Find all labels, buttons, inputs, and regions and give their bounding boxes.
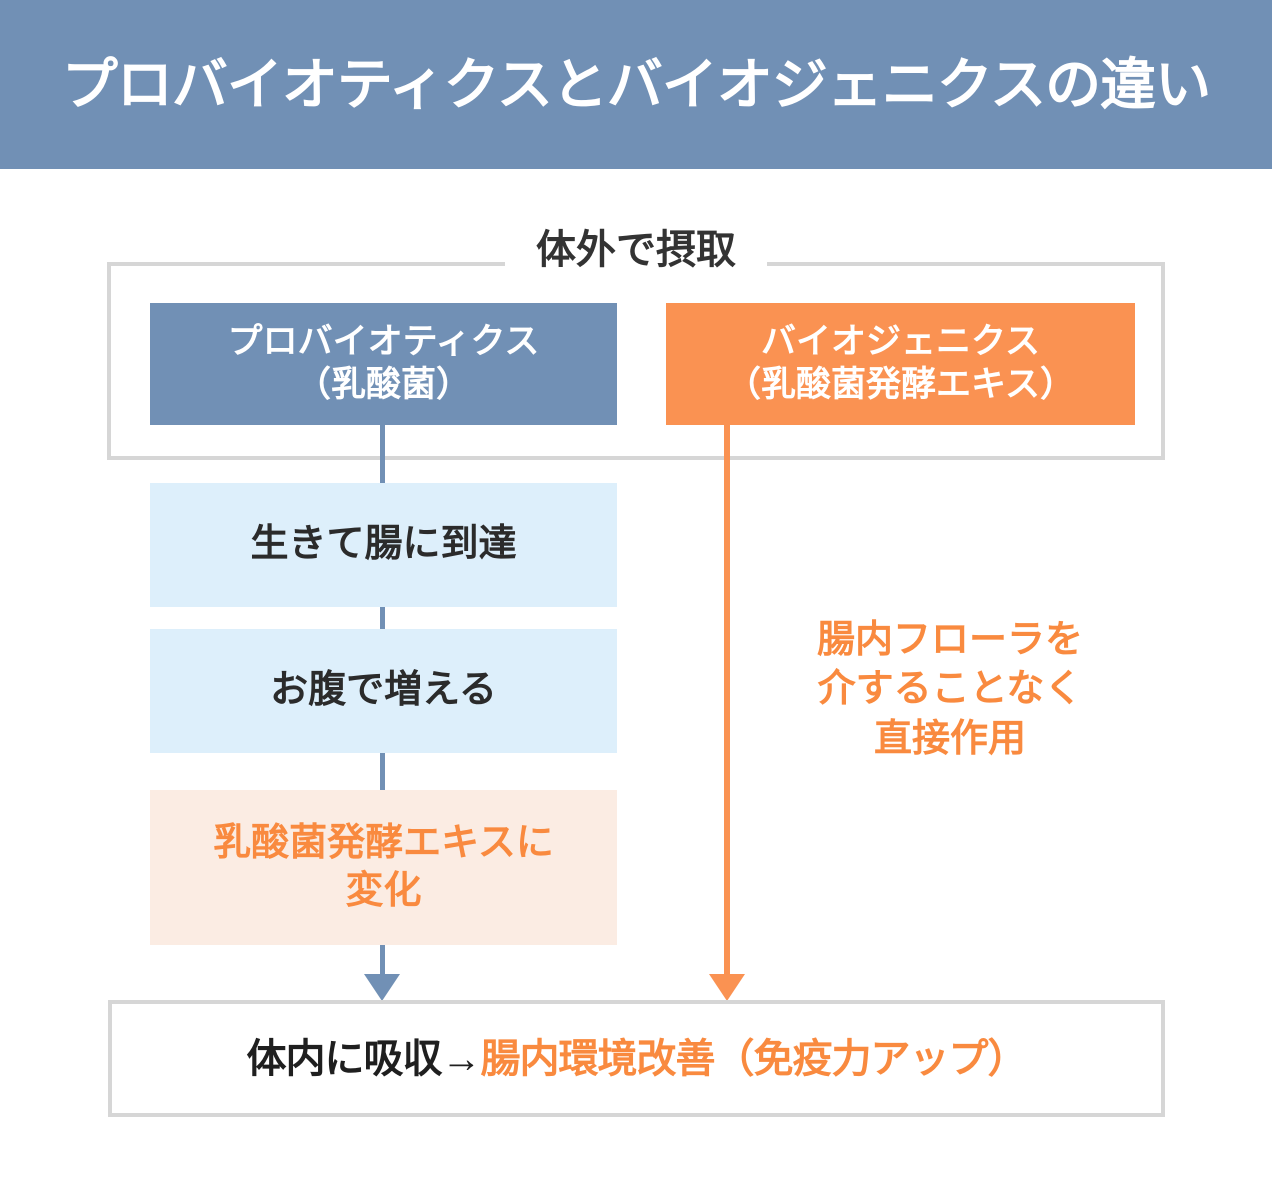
source-box-biogenics-line1: バイオジェニクス [726,321,1075,364]
step-box-become-extract-line1: 乳酸菌発酵エキスに [213,820,554,868]
biogenics-note-line2: 介することなく [755,665,1145,714]
biogenics-note-line3: 直接作用 [755,715,1145,764]
step-box-multiply-in-gut[interactable]: お腹で増える [150,629,617,753]
source-box-biogenics[interactable]: バイオジェニクス （乳酸菌発酵エキス） [666,303,1135,425]
intake-frame-label: 体外で摂取 [505,228,767,272]
step-box-reach-intestine-label: 生きて腸に到達 [250,521,516,569]
step-box-multiply-in-gut-label: お腹で増える [270,667,497,715]
source-box-probiotics-line1: プロバイオティクス [228,321,540,364]
source-box-probiotics-line2: （乳酸菌） [228,364,540,407]
step-box-become-extract-line2: 変化 [213,868,554,916]
biogenics-note-line1: 腸内フローラを [755,616,1145,665]
result-text: 体内に吸収→腸内環境改善（免疫力アップ） [247,1037,1027,1081]
diagram-canvas: プロバイオティクスとバイオジェニクスの違い 体外で摂取 プロバイオティクス （乳… [0,0,1272,1199]
result-prefix: 体内に吸収→ [247,1037,481,1081]
arrow-down-blue-icon [364,974,400,1001]
page-title: プロバイオティクスとバイオジェニクスの違い [62,54,1210,116]
connector-blue-segment-2 [380,607,385,629]
step-box-become-extract[interactable]: 乳酸菌発酵エキスに 変化 [150,790,617,945]
header-bar: プロバイオティクスとバイオジェニクスの違い [0,0,1272,169]
step-box-become-extract-text: 乳酸菌発酵エキスに 変化 [213,820,554,915]
source-box-probiotics-text: プロバイオティクス （乳酸菌） [228,321,540,406]
source-box-biogenics-text: バイオジェニクス （乳酸菌発酵エキス） [726,321,1075,406]
result-highlight: 腸内環境改善（免疫力アップ） [481,1037,1027,1081]
connector-blue-segment-1 [380,425,385,483]
result-box[interactable]: 体内に吸収→腸内環境改善（免疫力アップ） [108,1000,1165,1117]
connector-orange-line [724,425,730,981]
connector-blue-segment-3 [380,753,385,790]
arrow-down-orange-icon [709,974,745,1001]
biogenics-note: 腸内フローラを 介することなく 直接作用 [755,616,1145,764]
source-box-probiotics[interactable]: プロバイオティクス （乳酸菌） [150,303,617,425]
step-box-reach-intestine[interactable]: 生きて腸に到達 [150,483,617,607]
source-box-biogenics-line2: （乳酸菌発酵エキス） [726,364,1075,407]
